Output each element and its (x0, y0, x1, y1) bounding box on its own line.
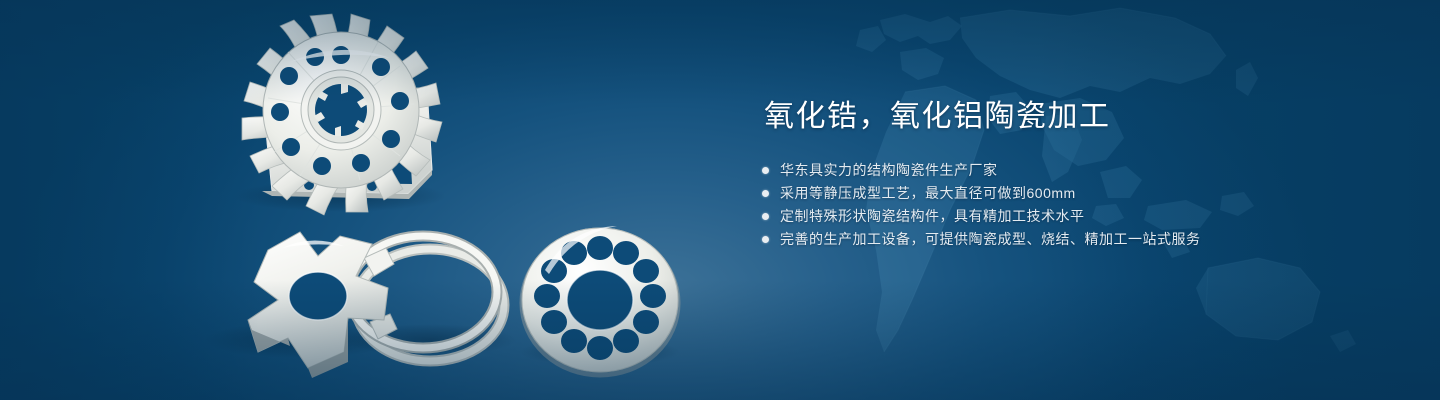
bullet-dot-icon (762, 167, 769, 174)
list-item: 定制特殊形状陶瓷结构件，具有精加工技术水平 (762, 205, 1402, 228)
banner-headline: 氧化锆，氧化铝陶瓷加工 (764, 100, 1402, 133)
feature-text: 华东具实力的结构陶瓷件生产厂家 (780, 159, 998, 182)
list-item: 华东具实力的结构陶瓷件生产厂家 (762, 159, 1402, 182)
bullet-dot-icon (762, 190, 769, 197)
feature-list: 华东具实力的结构陶瓷件生产厂家 采用等静压成型工艺，最大直径可做到600mm 定… (762, 159, 1402, 251)
bullet-dot-icon (762, 213, 769, 220)
banner-copy: 氧化锆，氧化铝陶瓷加工 华东具实力的结构陶瓷件生产厂家 采用等静压成型工艺，最大… (762, 100, 1402, 251)
ceramic-perforated-disc (522, 226, 678, 375)
feature-text: 完善的生产加工设备，可提供陶瓷成型、烧结、精加工一站式服务 (780, 228, 1201, 251)
feature-text: 采用等静压成型工艺，最大直径可做到600mm (780, 182, 1076, 205)
bullet-dot-icon (762, 236, 769, 243)
ceramic-products-image (0, 0, 760, 400)
product-hero-banner: 氧化锆，氧化铝陶瓷加工 华东具实力的结构陶瓷件生产厂家 采用等静压成型工艺，最大… (0, 0, 1440, 400)
feature-text: 定制特殊形状陶瓷结构件，具有精加工技术水平 (780, 205, 1085, 228)
list-item: 采用等静压成型工艺，最大直径可做到600mm (762, 182, 1402, 205)
list-item: 完善的生产加工设备，可提供陶瓷成型、烧结、精加工一站式服务 (762, 228, 1402, 251)
